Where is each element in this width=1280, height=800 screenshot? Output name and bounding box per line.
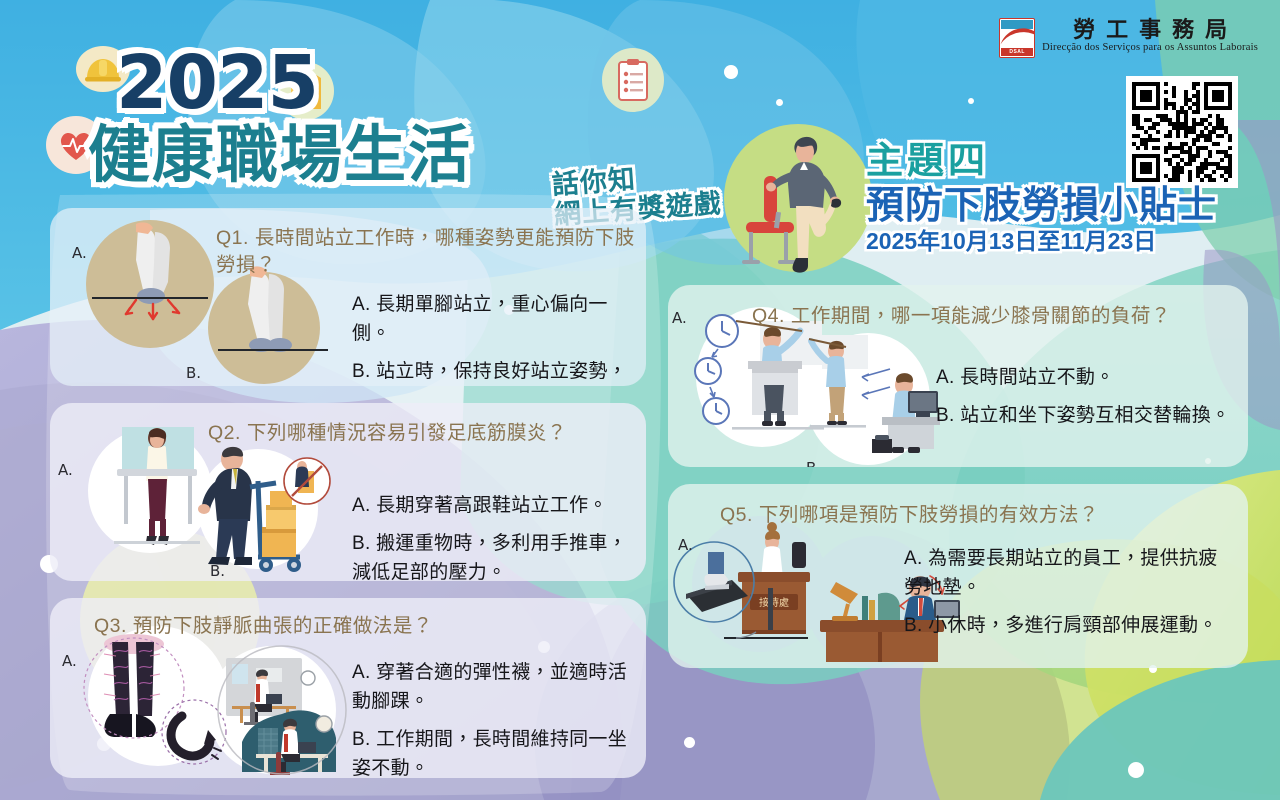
deco-dot — [968, 98, 974, 104]
q2-answer-a: A. 長期穿著高跟鞋站立工作。 — [352, 491, 638, 520]
svg-text:接待處: 接待處 — [759, 596, 789, 609]
dsal-logo-mark-text: DSAL — [1000, 48, 1034, 56]
q4-answer-a: A. 長時間站立不動。 — [936, 363, 1242, 392]
q2-heading: Q2. 下列哪種情況容易引發足底筋膜炎？ — [208, 420, 638, 447]
q4-answer-b: B. 站立和坐下姿勢互相交替輪換。 — [936, 401, 1242, 430]
header-branding: 2025 健康職場生活 話你知 網上有獎遊戲 — [46, 38, 746, 213]
poster-root: 2025 健康職場生活 話你知 網上有獎遊戲 DSAL 勞工事務局 Direcç… — [0, 0, 1280, 800]
q4-option-b-label: B. — [806, 459, 821, 467]
q3-answers: A. 穿著合適的彈性襪，並適時活動腳踝。 B. 工作期間，長時間維持同一坐姿不動… — [352, 658, 638, 778]
q3-answer-a: A. 穿著合適的彈性襪，並適時活動腳踝。 — [352, 658, 638, 716]
theme-block: 主題四 預防下肢勞損小貼士 2025年10月13日至11月23日 — [866, 140, 1266, 255]
q4-heading: Q4. 工作期間，哪一項能減少膝骨關節的負荷？ — [752, 303, 1242, 330]
q3-heading: Q3. 預防下肢靜脈曲張的正確做法是？ — [94, 613, 594, 640]
question-card-q4: A. B. Q4. 工作期間，哪一項能減少膝骨關節的負荷？ A. 長時間站立不動… — [668, 285, 1248, 467]
q1-option-a-label: A. — [72, 244, 87, 262]
q5-option-a-label: A. — [678, 536, 693, 554]
q5-answer-a: A. 為需要長期站立的員工，提供抗疲勞地墊。 — [904, 544, 1234, 602]
logo-name-pt: Direcção dos Serviços para os Assuntos L… — [1042, 42, 1258, 54]
q5-heading: Q5. 下列哪項是預防下肢勞損的有效方法？ — [720, 502, 1200, 529]
q3-option-a-label: A. — [62, 652, 77, 670]
q2-answers: A. 長期穿著高跟鞋站立工作。 B. 搬運重物時，多利用手推車，減低足部的壓力。 — [352, 491, 638, 581]
dsal-logo: DSAL 勞工事務局 Direcção dos Serviços para os… — [999, 18, 1258, 58]
q4-option-a-label: A. — [672, 309, 687, 327]
q1-option-b-label: B. — [186, 364, 201, 382]
theme-date-range: 2025年10月13日至11月23日 — [866, 227, 1266, 255]
question-card-q1: A. B. Q1. 長時間站立工作時，哪種姿勢更能預防下肢勞損？ A. 長期單腳… — [50, 208, 646, 386]
theme-name: 預防下肢勞損小貼士 — [866, 184, 1266, 228]
theme-number: 主題四 — [866, 140, 1266, 182]
q5-answers: A. 為需要長期站立的員工，提供抗疲勞地墊。 B. 小休時，多進行肩頸部伸展運動… — [904, 544, 1234, 640]
q1-heading: Q1. 長時間站立工作時，哪種姿勢更能預防下肢勞損？ — [216, 225, 636, 279]
deco-dot — [1128, 762, 1144, 778]
deco-dot — [684, 737, 695, 748]
question-card-q3: A. B. Q3. 預防下肢靜脈曲張的正確做法是？ A. 穿著合適的彈性襪，並適… — [50, 598, 646, 778]
dsal-logo-mark: DSAL — [999, 18, 1035, 58]
q2-answer-b: B. 搬運重物時，多利用手推車，減低足部的壓力。 — [352, 529, 638, 581]
clipboard-checklist-icon — [602, 48, 664, 112]
q3-illustration: A. B. — [60, 624, 360, 778]
question-card-q5: 接待處 — [668, 484, 1248, 668]
q1-answer-b: B. 站立時，保持良好站立姿勢，雙腳平均承重。 — [352, 357, 634, 386]
q2-option-a-label: A. — [58, 461, 73, 479]
question-card-q2: A. B. Q2. 下列哪種情況容易引發足底筋膜炎？ A. 長期穿著高跟鞋站立工… — [50, 403, 646, 581]
q3-answer-b: B. 工作期間，長時間維持同一坐姿不動。 — [352, 725, 638, 778]
header-year: 2025 — [116, 46, 318, 120]
theme-mascot-illustration — [718, 112, 886, 288]
page-title: 健康職場生活 — [88, 124, 472, 188]
q2-option-b-label: B. — [210, 562, 225, 580]
logo-name-cn: 勞工事務局 — [1062, 18, 1238, 42]
deco-dot — [776, 99, 783, 106]
q1-answers: A. 長期單腳站立，重心偏向一側。 B. 站立時，保持良好站立姿勢，雙腳平均承重… — [352, 290, 634, 386]
q1-answer-a: A. 長期單腳站立，重心偏向一側。 — [352, 290, 634, 348]
q4-answers: A. 長時間站立不動。 B. 站立和坐下姿勢互相交替輪換。 — [936, 363, 1242, 430]
q5-answer-b: B. 小休時，多進行肩頸部伸展運動。 — [904, 611, 1234, 640]
